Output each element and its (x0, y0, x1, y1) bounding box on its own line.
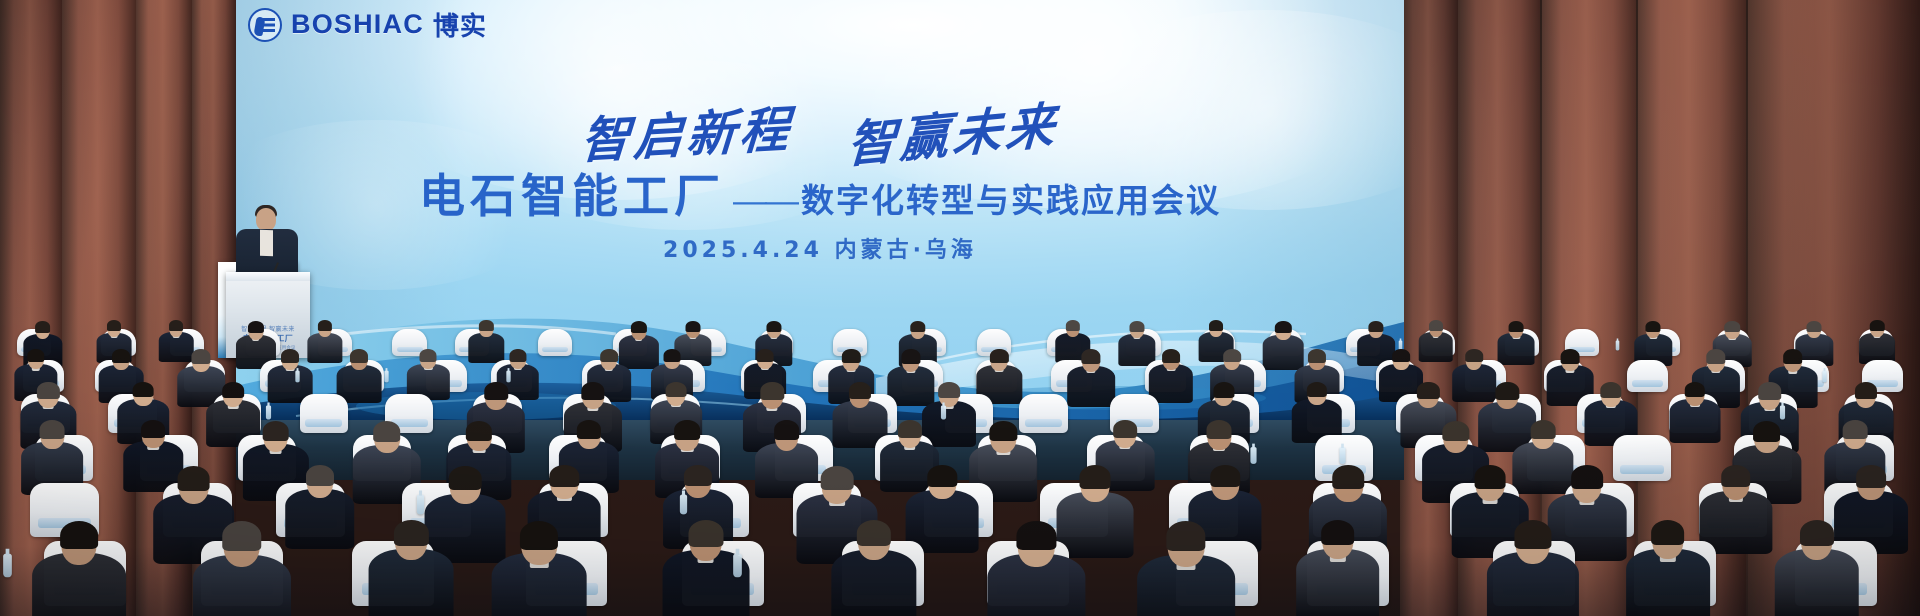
audience-member-hair (849, 382, 871, 399)
audience-member-hair (1129, 321, 1144, 332)
audience-member-hair (262, 421, 289, 441)
audience-member-hair (1079, 465, 1110, 489)
podium-top (226, 272, 310, 281)
audience-member-hair (766, 321, 781, 332)
chair-cover-band (542, 347, 568, 352)
audience-member-hair (901, 349, 920, 363)
audience-member-hair (1561, 349, 1580, 363)
audience-member-hair (1571, 465, 1603, 489)
water-bottle (3, 554, 12, 578)
audience-member-hair (898, 420, 922, 438)
audience-member-hair (1857, 465, 1887, 488)
audience-member-hair (169, 320, 183, 331)
audience-member-hair (248, 321, 264, 333)
audience-member (364, 514, 458, 616)
audience-member-hair (420, 349, 437, 362)
brand-logo: BOSHIAC 博实 (248, 6, 487, 43)
calligraphy-slogan: 智启新程 智赢未来 (236, 96, 1404, 167)
audience-member-hair (1843, 420, 1868, 439)
audience-member (1065, 346, 1118, 410)
audience-member-hair (1724, 321, 1740, 333)
audience-member (27, 514, 131, 616)
audience-member-hair (1684, 382, 1705, 398)
audience-member-hair (222, 521, 262, 551)
audience-member-hair (550, 465, 579, 487)
audience-member-hair (688, 520, 723, 547)
audience-member-hair (350, 349, 368, 363)
audience-member-hair (484, 382, 508, 400)
water-bottle (384, 371, 388, 383)
audience-member (1666, 378, 1723, 446)
audience-member-hair (1213, 382, 1234, 398)
audience-member (1770, 514, 1864, 616)
audience-member (1496, 318, 1537, 367)
audience-member-hair (1162, 349, 1180, 363)
audience-member-hair (1646, 321, 1661, 332)
audience-member-hair (1807, 321, 1822, 332)
audience-member-hair (35, 321, 51, 333)
audience-member-hair (112, 349, 130, 363)
audience-member-hair (857, 520, 891, 546)
audience-member-hair (1800, 520, 1834, 546)
audience-member-hair (318, 320, 332, 331)
water-bottle (1823, 371, 1827, 383)
audience-member-hair (842, 349, 860, 363)
conference-title-main: 电石智能工厂 (419, 160, 725, 226)
audience-member (1132, 514, 1241, 616)
audience-member-hair (1706, 349, 1725, 364)
brand-chinese-name: 博实 (433, 6, 487, 43)
audience-member-hair (1531, 420, 1556, 439)
audience-member-hair (1017, 521, 1056, 551)
conference-photo: BOSHIAC 博实 智启新程 智赢未来 电石智能工厂 —— 数字化转型与实践应… (0, 0, 1920, 616)
audience-member-hair (760, 382, 783, 400)
audience-member-hair (1600, 382, 1621, 398)
audience-member-hair (1308, 349, 1326, 363)
audience-member-hair (306, 465, 334, 486)
conference-title: 电石智能工厂 —— 数字化转型与实践应用会议 (236, 160, 1404, 226)
brand-english-name: BOSHIAC (291, 9, 424, 40)
audience-member-hair (1651, 520, 1685, 546)
audience-member-hair (141, 420, 165, 438)
audience-member-hair (910, 321, 925, 333)
audience-member-hair (1307, 382, 1327, 397)
audience-member-hair (509, 349, 526, 362)
audience-member-hair (990, 421, 1017, 442)
audience-member-hair (938, 382, 960, 399)
conference-title-subtitle: 数字化转型与实践应用会议 (801, 174, 1221, 222)
audience-member-hair (1496, 382, 1519, 400)
audience-member-hair (928, 465, 957, 487)
audience-member-hair (1514, 520, 1551, 548)
audience-member-hair (1475, 465, 1506, 488)
audience-seating (0, 300, 1920, 616)
audience-member-hair (1758, 382, 1782, 400)
audience-member-hair (192, 349, 211, 364)
audience-member-hair (685, 321, 700, 332)
audience-member-hair (1417, 382, 1439, 399)
audience-member-hair (666, 382, 687, 398)
audience-member-hair (1332, 465, 1363, 489)
audience-member (1857, 318, 1897, 366)
audience-member-hair (1465, 349, 1483, 362)
audience-member-hair (107, 320, 121, 331)
water-bottle (680, 495, 687, 515)
audience-member-hair (774, 420, 800, 440)
audience-member-hair (1209, 320, 1223, 331)
audience-member-hair (1870, 320, 1884, 331)
audience-member-hair (520, 521, 558, 550)
audience-member-hair (756, 349, 773, 362)
conference-date-location: 2025.4.24 内蒙古·乌海 (236, 232, 1404, 264)
audience-member-hair (1442, 421, 1469, 442)
audience-member-hair (821, 466, 854, 491)
audience-member-hair (1275, 321, 1291, 333)
audience-member-hair (1321, 520, 1355, 546)
audience-member-hair (223, 382, 245, 398)
audience-member (487, 514, 592, 616)
water-bottle (417, 495, 424, 515)
conference-title-dash: —— (733, 182, 797, 221)
audience-member-hair (1855, 382, 1877, 399)
audience-member-hair (394, 520, 428, 546)
audience-member-hair (1207, 420, 1232, 439)
audience-member-hair (1509, 321, 1524, 332)
audience-chair (538, 329, 572, 356)
audience-member-hair (1721, 465, 1751, 487)
audience-member-hair (1753, 421, 1781, 442)
audience-member-hair (1081, 349, 1100, 364)
water-bottle (733, 554, 742, 578)
audience-member-hair (1210, 465, 1239, 487)
audience-member-hair (1783, 349, 1803, 364)
audience-member-hair (1368, 321, 1383, 333)
audience-member (1291, 514, 1384, 616)
audience-member-hair (1223, 349, 1241, 362)
audience-member-hair (373, 421, 401, 442)
audience-member-hair (281, 349, 299, 363)
audience-member-hair (1066, 320, 1080, 331)
audience-member-hair (1113, 420, 1137, 438)
audience-member-hair (479, 320, 493, 331)
audience-member-hair (600, 349, 618, 362)
audience-member-hair (177, 466, 210, 491)
audience-member-hair (1392, 349, 1410, 362)
audience-member-hair (1429, 320, 1443, 331)
audience-member-hair (577, 420, 601, 438)
speaker-shirt (260, 230, 273, 256)
audience-member-hair (631, 321, 647, 333)
audience-member-hair (466, 421, 492, 441)
audience-member-hair (60, 521, 98, 550)
audience-member-hair (133, 382, 154, 398)
audience-member-hair (581, 382, 604, 400)
audience-member (1621, 514, 1714, 616)
audience-member-hair (449, 466, 482, 491)
audience-member-hair (37, 382, 59, 399)
audience-member-hair (684, 465, 712, 486)
audience-member-hair (990, 349, 1008, 363)
audience-member (826, 514, 921, 616)
audience-member-hair (674, 420, 700, 440)
audience-member-hair (664, 349, 681, 362)
date-location-text: 2025.4.24 内蒙古·乌海 (663, 238, 977, 263)
audience-member (982, 514, 1090, 616)
speaker-head (256, 208, 276, 231)
audience-member (1482, 514, 1584, 616)
audience-member-hair (1166, 521, 1205, 551)
water-bottle (295, 371, 299, 383)
water-bottle (1616, 340, 1620, 350)
audience-member-hair (40, 420, 65, 439)
audience-member-hair (27, 349, 44, 362)
audience-member (187, 514, 296, 616)
boshiac-circular-logo-icon (248, 8, 282, 42)
